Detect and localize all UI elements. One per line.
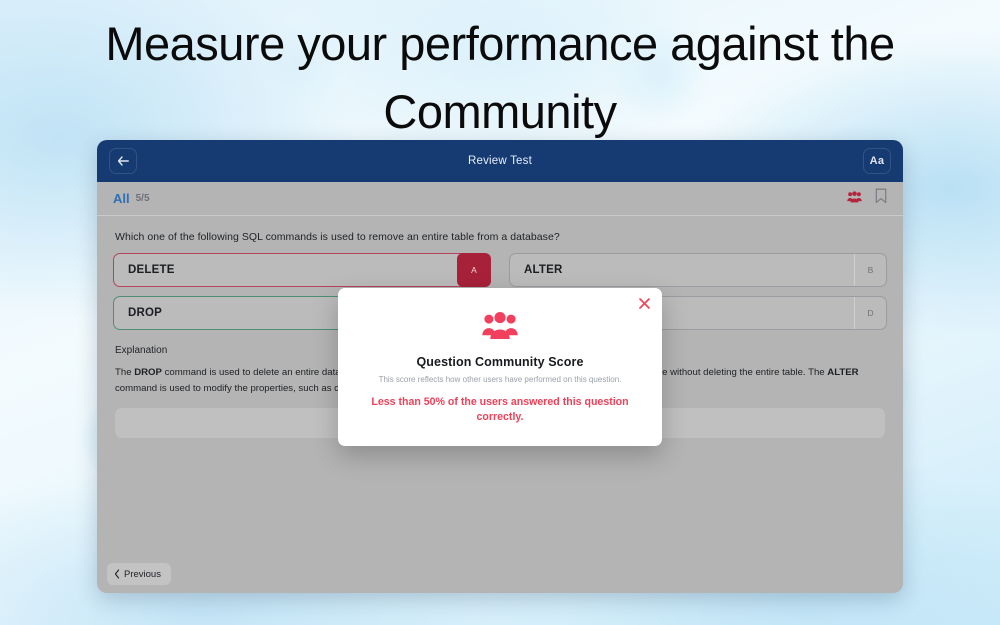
explanation-bold-alter: ALTER [827,367,858,378]
app-header: Review Test Aa [97,140,903,182]
answer-option-a[interactable]: DELETE A [113,253,491,287]
chevron-left-icon [114,569,120,579]
filter-bar: All 5/5 [97,182,903,216]
bookmark-button[interactable] [875,188,887,209]
page-title: Review Test [468,155,532,167]
modal-title: Question Community Score [338,355,662,369]
modal-subtitle: This score reflects how other users have… [338,375,662,384]
answer-option-d-badge: D [854,297,886,329]
page-headline: Measure your performance against the Com… [0,10,1000,146]
filter-all-link[interactable]: All [113,191,130,206]
headline-line-1: Measure your performance against the [0,10,1000,78]
answer-option-a-label: DELETE [128,264,175,276]
modal-icon-wrap [338,312,662,345]
people-group-icon [847,191,862,203]
page-root: Measure your performance against the Com… [0,0,1000,625]
answer-option-b[interactable]: ALTER B [509,253,887,287]
question-count: 5/5 [136,193,150,204]
people-group-icon [482,312,518,340]
close-icon [638,297,651,310]
explanation-prefix: The [115,367,134,378]
community-score-button[interactable] [847,190,862,208]
answer-option-a-badge: A [457,253,491,287]
answer-option-b-label: ALTER [524,264,562,276]
filter-bar-actions [847,188,887,209]
modal-close-button[interactable] [638,297,651,312]
answer-option-c-label: DROP [128,307,162,319]
back-button[interactable] [109,148,137,174]
text-size-button[interactable]: Aa [863,148,891,174]
modal-result-text: Less than 50% of the users answered this… [364,395,636,425]
explanation-bold-drop: DROP [134,367,162,378]
previous-button-label: Previous [124,569,161,580]
back-arrow-icon [117,156,130,166]
previous-button[interactable]: Previous [107,563,171,585]
community-score-modal: Question Community Score This score refl… [338,288,662,446]
bookmark-icon [875,188,887,204]
headline-line-2: Community [0,78,1000,146]
question-text: Which one of the following SQL commands … [115,231,887,243]
answer-option-b-badge: B [854,254,886,286]
